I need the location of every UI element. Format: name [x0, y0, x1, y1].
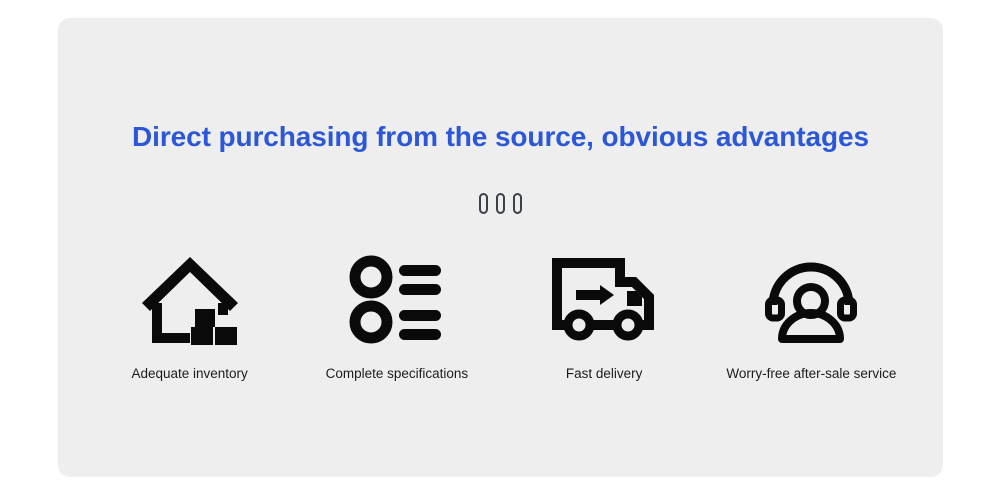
separator-pill-3	[513, 193, 522, 214]
feature-item-specifications: Complete specifications	[293, 250, 500, 381]
feature-label-delivery: Fast delivery	[566, 366, 643, 381]
feature-item-delivery: Fast delivery	[501, 250, 708, 381]
feature-item-after-sale-service: Worry-free after-sale service	[708, 250, 915, 381]
separator-pill-2	[496, 193, 505, 214]
decorative-separator	[58, 193, 943, 214]
feature-label-specifications: Complete specifications	[326, 366, 469, 381]
delivery-truck-icon	[552, 250, 656, 350]
promo-card: Direct purchasing from the source, obvio…	[58, 18, 943, 477]
feature-label-inventory: Adequate inventory	[131, 366, 247, 381]
feature-label-after-sale-service: Worry-free after-sale service	[726, 366, 896, 381]
promo-banner-page: Direct purchasing from the source, obvio…	[0, 0, 1000, 499]
feature-item-inventory: Adequate inventory	[86, 250, 293, 381]
page-title: Direct purchasing from the source, obvio…	[58, 121, 943, 153]
specification-list-icon	[349, 250, 445, 350]
customer-service-headset-icon	[763, 250, 859, 350]
feature-list: Adequate inventory	[58, 250, 943, 381]
separator-pill-1	[479, 193, 488, 214]
warehouse-inventory-icon	[138, 250, 242, 350]
